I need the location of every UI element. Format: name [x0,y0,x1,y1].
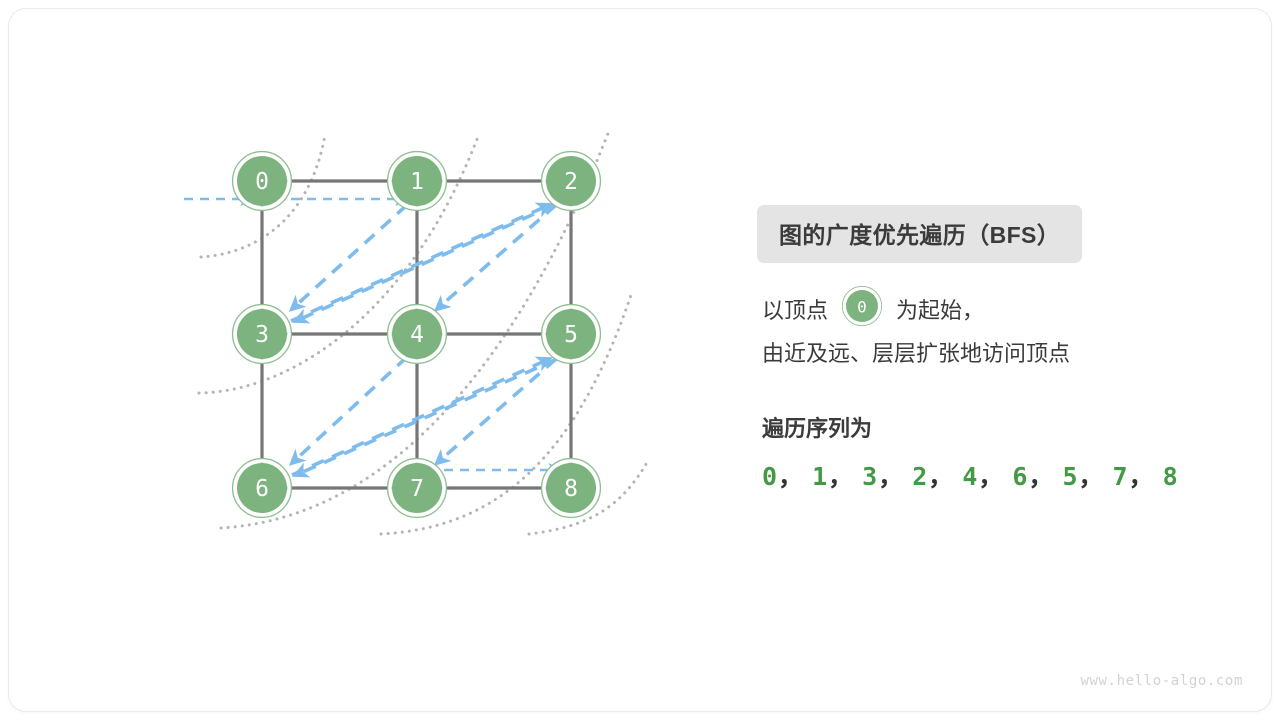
page-title: 图的广度优先遍历（BFS） [757,205,1082,263]
sequence-separator: ， [878,462,903,491]
sequence-item: 7 [1113,462,1128,491]
bfs-arrow-1-to-3 [296,205,554,321]
sequence-separator: ， [828,462,853,491]
description-prefix: 以顶点 [762,298,828,323]
description-line-2: 由近及远、层层扩张地访问顶点 [762,331,1242,377]
graph-node-1[interactable]: 1 [388,152,446,210]
graph-node-4[interactable]: 4 [388,305,446,363]
graph-panel: 0 1 2 3 [9,9,709,712]
graph-canvas: 0 1 2 3 [9,9,709,712]
bfs-arrow-5-to-7 [437,359,556,463]
inline-start-node: 0 [841,285,883,327]
graph-node-8[interactable]: 8 [542,459,600,517]
graph-node-7[interactable]: 7 [388,459,446,517]
node-label: 4 [410,322,424,348]
graph-node-5[interactable]: 5 [542,305,600,363]
node-label: 5 [564,322,578,348]
bfs-arrow-3-to-2 [291,205,549,321]
node-label: 6 [255,476,269,502]
node-label: 2 [564,169,578,195]
graph-node-2[interactable]: 2 [542,152,600,210]
inline-node-svg: 0 [841,285,883,327]
graph-node-0[interactable]: 0 [233,152,291,210]
node-label: 0 [255,169,269,195]
bfs-arrow-2-to-4 [437,205,556,309]
sequence-separator: ， [1079,462,1104,491]
sequence-separator: ， [1129,462,1154,491]
illustration-card: 0 1 2 3 [8,8,1272,712]
info-panel: 图的广度优先遍历（BFS） 以顶点 0 为起始， 由近及远、层层扩张地访问顶点 … [744,9,1264,712]
graph-nodes: 0 1 2 3 [233,152,600,517]
description-suffix: 为起始， [896,298,984,323]
description-block: 以顶点 0 为起始， 由近及远、层层扩张地访问顶点 [762,285,1242,377]
graph-node-3[interactable]: 3 [233,305,291,363]
sequence-separator: ， [1028,462,1053,491]
sequence-separator: ， [978,462,1003,491]
node-label: 3 [255,322,269,348]
graph-node-6[interactable]: 6 [233,459,291,517]
sequence-item: 4 [962,462,977,491]
inline-node-label: 0 [857,298,867,317]
sequence-item: 5 [1062,462,1077,491]
sequence-separator: ， [928,462,953,491]
description-line-1: 以顶点 0 为起始， [762,285,1242,331]
sequence-item: 2 [912,462,927,491]
node-label: 7 [410,476,424,502]
bfs-arrow-6-to-5 [292,359,549,475]
sequence-item: 6 [1012,462,1027,491]
bfs-arrow-5-to-6 [296,359,557,475]
node-label: 1 [410,169,424,195]
sequence-separator: ， [778,462,803,491]
sequence-item: 3 [862,462,877,491]
bfs-arrow-0-to-3 [292,205,407,309]
sequence-item: 1 [812,462,827,491]
node-label: 8 [564,476,578,502]
sequence-item: 0 [762,462,777,491]
sequence-heading: 遍历序列为 [762,411,872,443]
traversal-sequence: 0，1，3，2，4，6，5，7，8 [762,457,1178,493]
bfs-arrow-4-to-6 [292,357,407,463]
sequence-item: 8 [1163,462,1178,491]
watermark: www.hello-algo.com [1080,673,1243,689]
